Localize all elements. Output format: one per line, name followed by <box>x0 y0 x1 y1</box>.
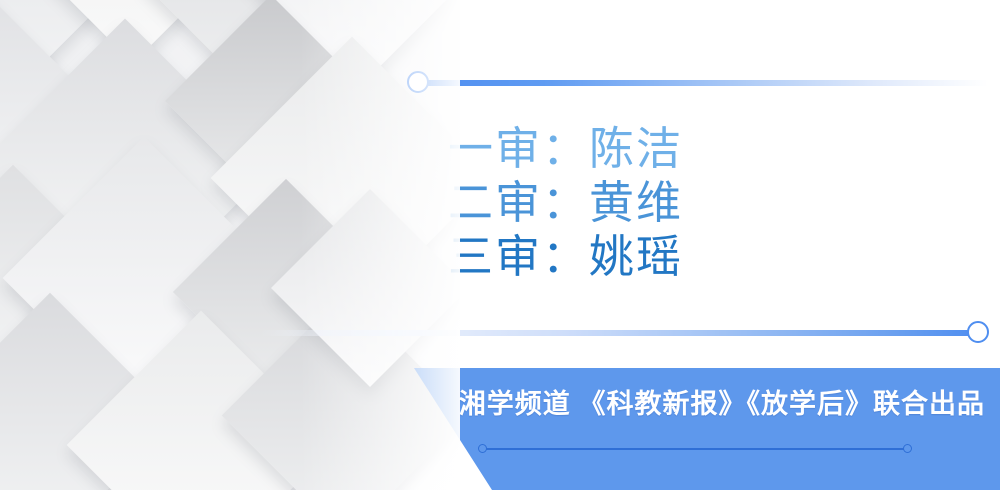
banner-rule-dot-right-icon <box>903 444 912 453</box>
producer-banner: 湘学频道 《科教新报》《放学后》联合出品 <box>0 368 1000 490</box>
banner-rule-dot-left-icon <box>478 444 487 453</box>
credits-card: 一审：陈洁 二审：黄维 三审：姚瑶 湘学频道 《科教新报》《放学后》联合出品 <box>0 0 1000 490</box>
banner-text: 湘学频道 《科教新报》《放学后》联合出品 <box>440 373 985 429</box>
background-fade <box>300 0 460 490</box>
credits-block: 一审：陈洁 二审：黄维 三审：姚瑶 <box>448 122 683 284</box>
decor-line-bottom-dot-icon <box>967 321 989 343</box>
credit-line-third-review: 三审：姚瑶 <box>448 230 683 284</box>
credit-line-first-review: 一审：陈洁 <box>448 122 683 176</box>
decor-line-top <box>418 80 988 86</box>
banner-rule <box>486 448 908 450</box>
credit-line-second-review: 二审：黄维 <box>448 176 683 230</box>
